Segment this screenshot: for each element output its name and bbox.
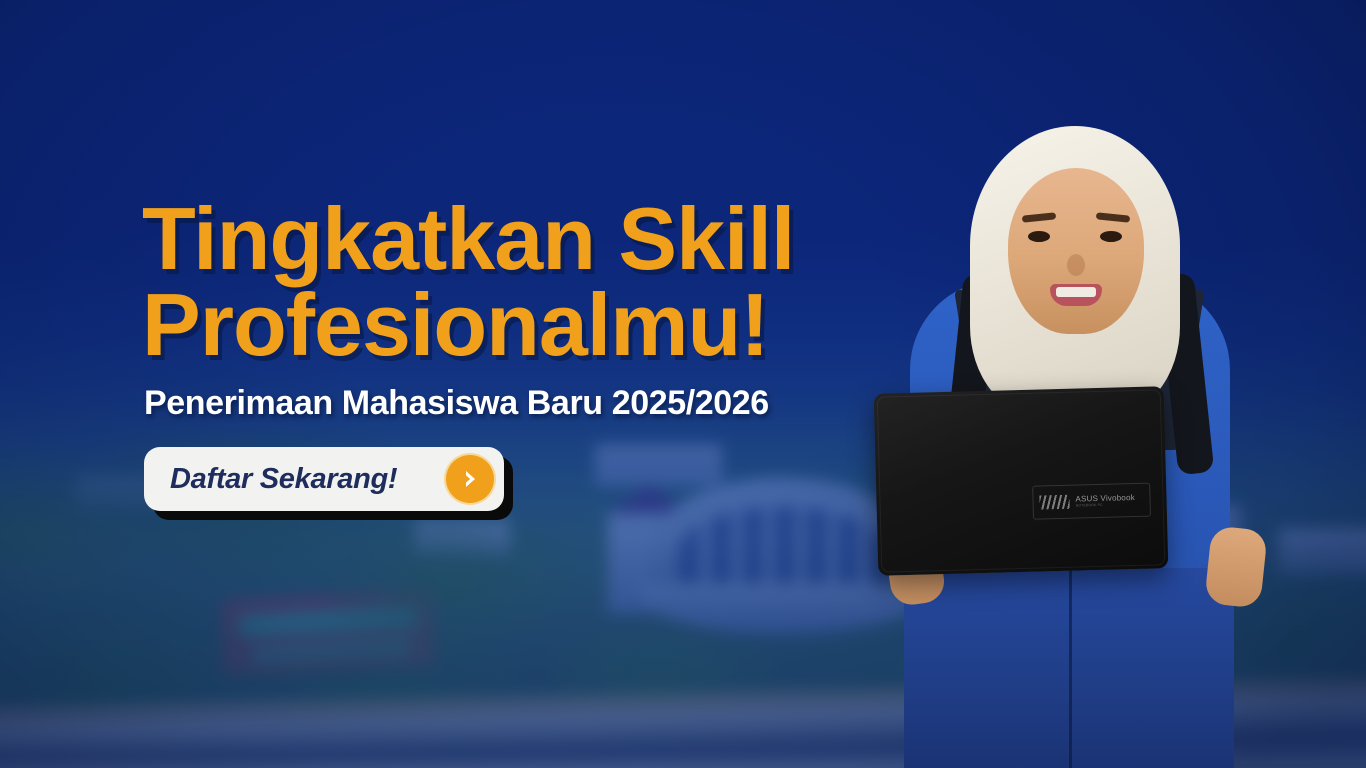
daftar-sekarang-button[interactable]: Daftar Sekarang! bbox=[144, 447, 504, 511]
model-eye-right bbox=[1100, 231, 1122, 242]
headline-line-1: Tingkatkan Skill bbox=[142, 189, 794, 288]
cta-label: Daftar Sekarang! bbox=[170, 463, 397, 496]
model-skirt bbox=[904, 568, 1234, 768]
cta-container: Daftar Sekarang! bbox=[144, 447, 504, 511]
model-eye-left bbox=[1028, 231, 1050, 242]
chevron-right-icon bbox=[446, 455, 494, 503]
student-model-photo: ASUS Vivobook NOTEBOOK PC bbox=[858, 68, 1288, 768]
asus-stripes-icon bbox=[1039, 495, 1069, 510]
headline: Tingkatkan Skill Profesionalmu! bbox=[142, 196, 922, 368]
banner-content: Tingkatkan Skill Profesionalmu! Penerima… bbox=[142, 196, 922, 511]
model-face bbox=[1008, 168, 1144, 334]
model-nose bbox=[1067, 254, 1085, 276]
laptop-brand-label: ASUS Vivobook NOTEBOOK PC bbox=[1075, 493, 1135, 508]
promo-banner: ASUS Vivobook NOTEBOOK PC Tingkatkan Ski… bbox=[0, 0, 1366, 768]
subtitle: Penerimaan Mahasiswa Baru 2025/2026 bbox=[144, 384, 922, 423]
laptop-brand-badge: ASUS Vivobook NOTEBOOK PC bbox=[1032, 483, 1151, 520]
model-teeth bbox=[1056, 287, 1096, 297]
model-hand-right bbox=[1204, 525, 1268, 608]
headline-line-2: Profesionalmu! bbox=[142, 282, 922, 368]
